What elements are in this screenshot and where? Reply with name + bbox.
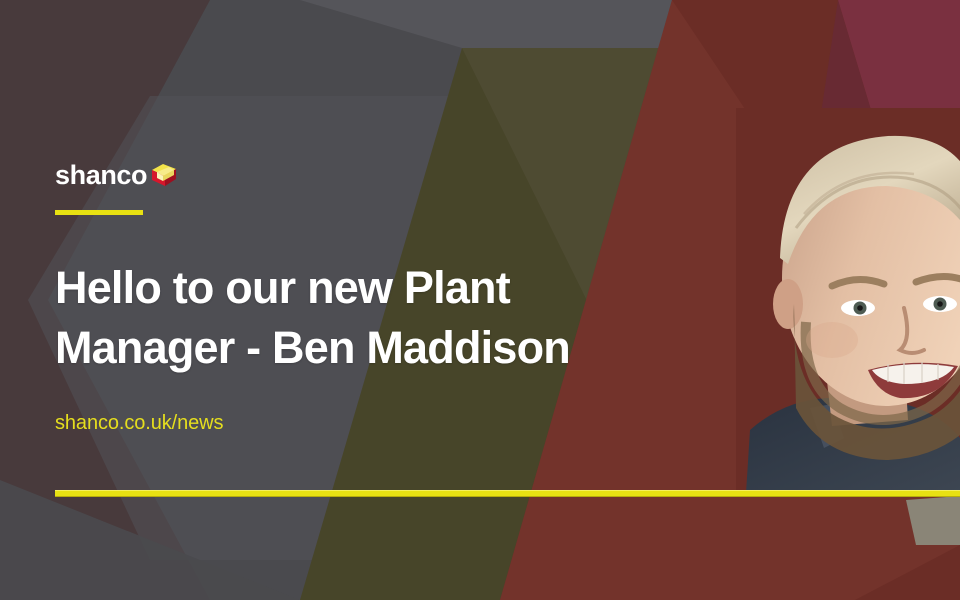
news-banner: shanco Hello to our new Plant Manager - … — [0, 0, 960, 600]
photo-pupil-right — [937, 301, 943, 307]
website-link[interactable]: shanco.co.uk/news — [55, 412, 223, 435]
brand-accent-bar — [55, 210, 143, 215]
page-title: Hello to our new Plant Manager - Ben Mad… — [55, 258, 675, 378]
photo-pupil-left — [857, 305, 863, 311]
brand-logo[interactable]: shanco — [55, 158, 178, 192]
content-column: shanco Hello to our new Plant Manager - … — [55, 0, 695, 600]
photo-cheek — [806, 322, 858, 358]
cube-icon — [150, 161, 178, 189]
brand-wordmark: shanco — [55, 162, 147, 189]
portrait-photo — [736, 108, 960, 493]
photo-ear — [773, 279, 803, 329]
bottom-yellow-rule — [55, 490, 960, 497]
